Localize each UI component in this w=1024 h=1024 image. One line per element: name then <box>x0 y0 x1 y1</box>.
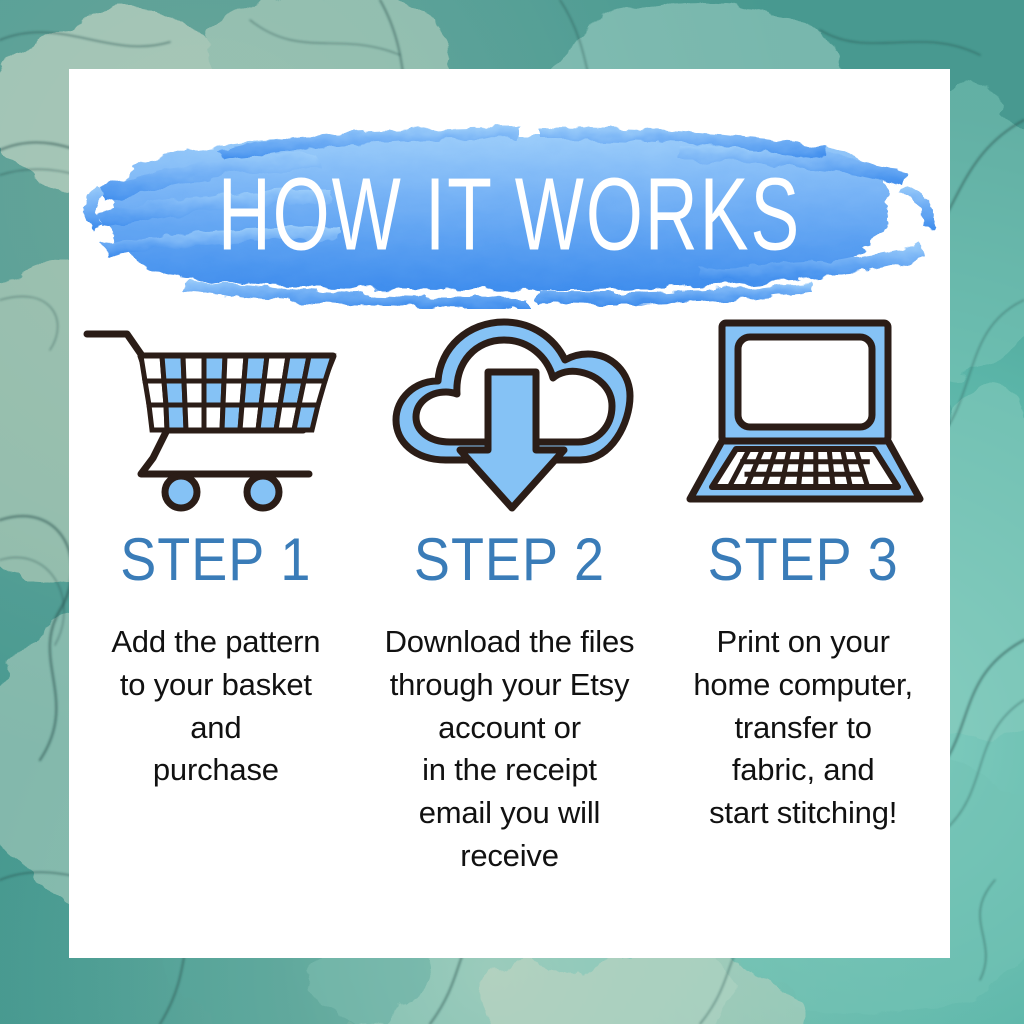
step-column-1: STEP 1 Add the pattern to your basket an… <box>69 307 363 792</box>
step-3-line-3: transfer to <box>693 707 912 750</box>
cloud-download-icon <box>384 310 634 515</box>
poster-canvas: HOW IT WORKS <box>0 0 1024 1024</box>
step-1-line-1: Add the pattern <box>111 621 320 664</box>
step-1-line-3: and <box>111 707 320 750</box>
step-1-icon-box <box>81 307 351 517</box>
step-2-line-4: in the receipt <box>385 749 635 792</box>
step-2-line-2: through your Etsy <box>385 664 635 707</box>
step-1-body: Add the pattern to your basket and purch… <box>111 621 320 792</box>
step-3-label: STEP 3 <box>708 530 899 590</box>
step-3-line-4: fabric, and <box>693 749 912 792</box>
white-card: HOW IT WORKS <box>69 69 950 958</box>
step-3-icon-box <box>678 307 928 517</box>
step-column-3: STEP 3 Print on your home computer, tran… <box>656 307 950 835</box>
page-title: HOW IT WORKS <box>95 89 923 340</box>
laptop-icon <box>678 315 928 510</box>
step-2-body: Download the files through your Etsy acc… <box>385 621 635 878</box>
shopping-cart-icon <box>81 312 351 512</box>
step-3-line-5: start stitching! <box>693 792 912 835</box>
step-column-2: STEP 2 Download the files through your E… <box>363 307 657 878</box>
step-1-label: STEP 1 <box>120 530 311 590</box>
step-2-line-5: email you will <box>385 792 635 835</box>
step-1-line-4: purchase <box>111 749 320 792</box>
step-1-line-2: to your basket <box>111 664 320 707</box>
step-2-line-3: account or <box>385 707 635 750</box>
title-banner: HOW IT WORKS <box>69 119 950 309</box>
step-3-line-1: Print on your <box>693 621 912 664</box>
step-2-line-1: Download the files <box>385 621 635 664</box>
step-2-icon-box <box>384 307 634 517</box>
step-3-line-2: home computer, <box>693 664 912 707</box>
steps-row: STEP 1 Add the pattern to your basket an… <box>69 307 950 878</box>
step-2-label: STEP 2 <box>414 530 605 590</box>
step-3-body: Print on your home computer, transfer to… <box>693 621 912 835</box>
step-2-line-6: receive <box>385 835 635 878</box>
